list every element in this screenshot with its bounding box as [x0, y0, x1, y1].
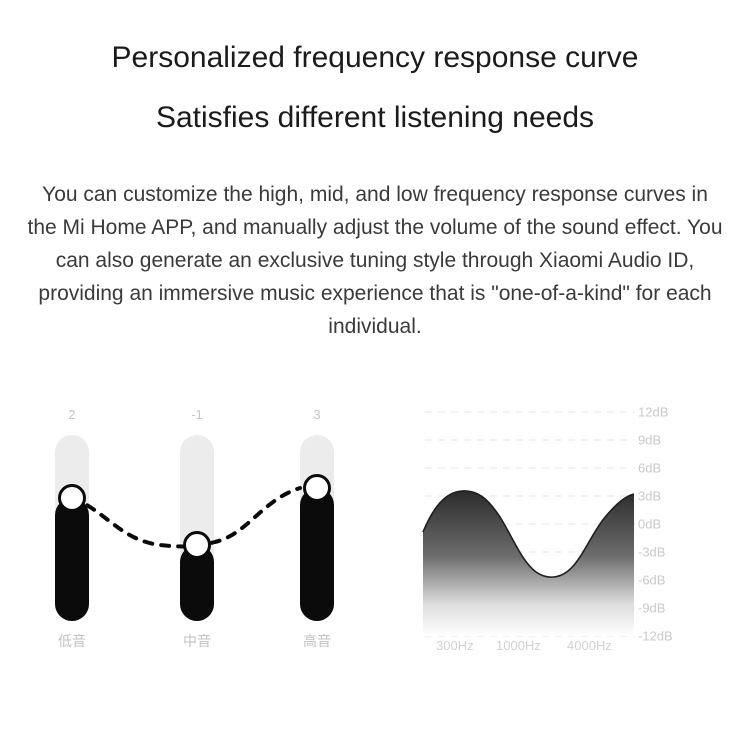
slider-thumb[interactable] — [303, 474, 331, 502]
description-paragraph: You can customize the high, mid, and low… — [25, 178, 725, 343]
page-subtitle: Satisfies different listening needs — [0, 96, 750, 140]
product-feature-page: Personalized frequency response curve Sa… — [0, 0, 750, 750]
page-title: Personalized frequency response curve — [0, 36, 750, 80]
headline-block: Personalized frequency response curve Sa… — [0, 36, 750, 140]
y-tick-label: -3dB — [638, 545, 698, 560]
y-tick-label: -9dB — [638, 601, 698, 616]
eq-slider-value-mid: -1 — [160, 407, 234, 422]
y-tick-label: -12dB — [638, 629, 698, 644]
eq-slider-label-bass: 低音 — [33, 631, 111, 651]
response-area — [423, 491, 634, 636]
slider-thumb[interactable] — [183, 531, 211, 559]
slider-thumb[interactable] — [58, 484, 86, 512]
eq-slider-label-mid: 中音 — [158, 631, 236, 651]
frequency-response-chart: 12dB 9dB 6dB 3dB 0dB -3dB -6dB -9dB -12d… — [400, 390, 750, 680]
eq-slider-value-treble: 3 — [280, 407, 354, 422]
slider-fill — [55, 498, 89, 621]
figure-area: 2 低音 -1 中音 3 高音 — [0, 390, 750, 680]
x-tick-label: 1000Hz — [496, 638, 541, 653]
y-tick-label: 12dB — [638, 405, 698, 420]
eq-slider-label-treble: 高音 — [278, 631, 356, 651]
x-tick-label: 4000Hz — [567, 638, 612, 653]
y-tick-label: 9dB — [638, 433, 698, 448]
y-tick-label: -6dB — [638, 573, 698, 588]
y-tick-label: 3dB — [638, 489, 698, 504]
x-tick-label: 300Hz — [436, 638, 474, 653]
y-tick-label: 6dB — [638, 461, 698, 476]
slider-fill — [300, 488, 334, 621]
equalizer-panel: 2 低音 -1 中音 3 高音 — [0, 390, 390, 680]
eq-slider-value-bass: 2 — [35, 407, 109, 422]
y-tick-label: 0dB — [638, 517, 698, 532]
